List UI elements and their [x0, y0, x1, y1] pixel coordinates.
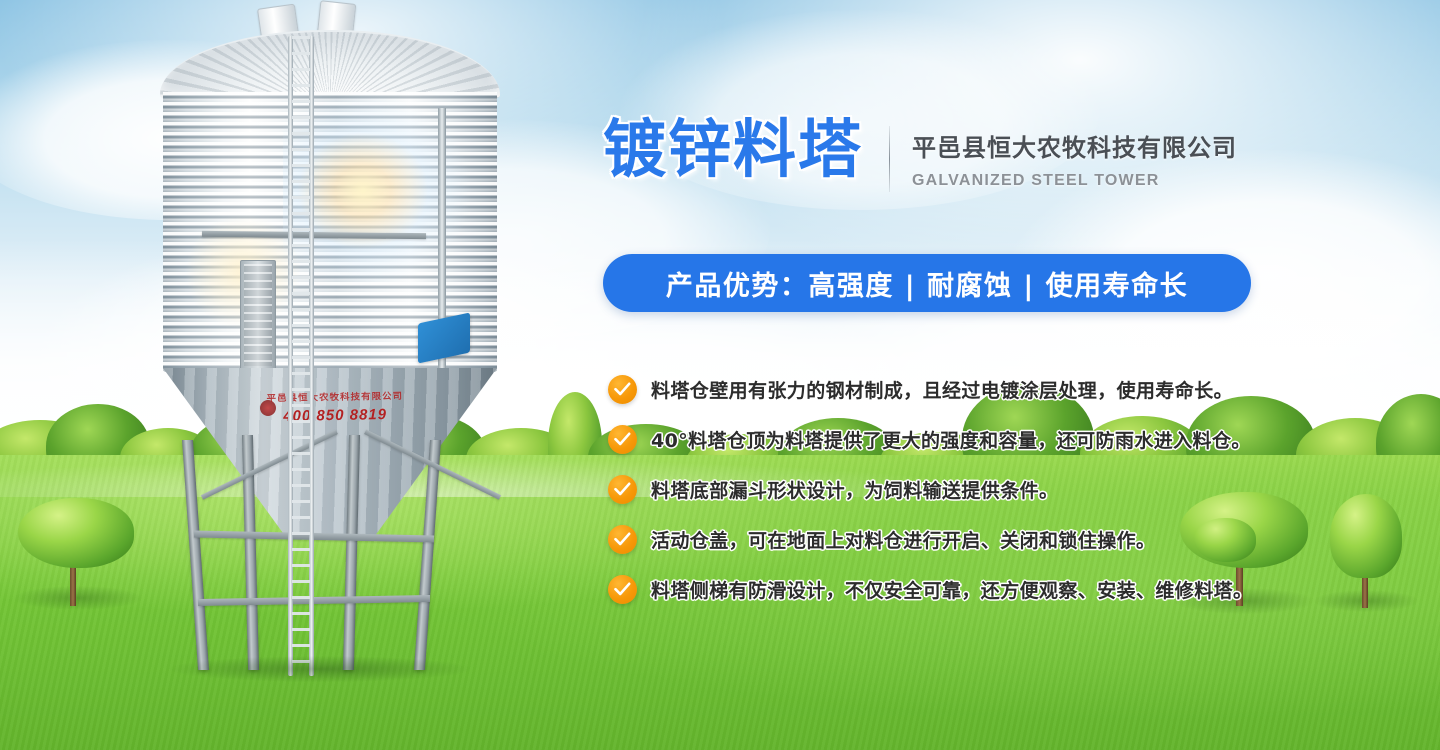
- silo-vertical-stiffener: [438, 108, 446, 408]
- hopper-red-mark: [260, 400, 276, 416]
- silo-leg: [182, 440, 209, 670]
- check-icon: [608, 425, 637, 454]
- silo-hopper-cone: [163, 368, 497, 538]
- hopper-sheen: [163, 368, 497, 538]
- promo-banner: 平邑县恒大农牧科技有限公司 400 850 8819 镀锌料塔 平邑县恒大农牧科…: [0, 0, 1440, 750]
- check-icon: [608, 575, 637, 604]
- check-icon: [608, 525, 637, 554]
- silo-ground-shadow: [170, 656, 470, 682]
- feature-text: 料塔侧梯有防滑设计，不仅安全可靠，还方便观察、安装、维修料塔。: [651, 576, 1252, 603]
- check-icon: [608, 475, 637, 504]
- feature-text: 料塔底部漏斗形状设计，为饲料输送提供条件。: [651, 476, 1058, 503]
- feature-text: 活动仓盖，可在地面上对料仓进行开启、关闭和锁住操作。: [651, 526, 1155, 553]
- foreground-tree: [18, 498, 138, 608]
- silo-side-ladder: [288, 36, 314, 676]
- company-name: 平邑县恒大农牧科技有限公司: [912, 128, 1237, 163]
- check-icon: [608, 375, 637, 404]
- advantage-banner-text: 产品优势：高强度 | 耐腐蚀 | 使用寿命长: [666, 264, 1188, 303]
- company-subtitle: GALVANIZED STEEL TOWER: [912, 172, 1237, 190]
- silo-brace: [194, 530, 434, 542]
- feature-item: 40°料塔仓顶为料塔提供了更大的强度和容量，还可防雨水进入料仓。: [608, 414, 1408, 464]
- feature-list: 料塔仓壁用有张力的钢材制成，且经过电镀涂层处理，使用寿命长。 40°料塔仓顶为料…: [608, 364, 1408, 614]
- feature-text: 料塔仓壁用有张力的钢材制成，且经过电镀涂层处理，使用寿命长。: [651, 376, 1233, 403]
- title-divider: [889, 126, 890, 192]
- feature-item: 料塔底部漏斗形状设计，为饲料输送提供条件。: [608, 464, 1408, 514]
- silo-access-panel: [240, 260, 276, 370]
- company-block: 平邑县恒大农牧科技有限公司 GALVANIZED STEEL TOWER: [912, 118, 1237, 190]
- feature-item: 料塔侧梯有防滑设计，不仅安全可靠，还方便观察、安装、维修料塔。: [608, 564, 1408, 614]
- feature-item: 活动仓盖，可在地面上对料仓进行开启、关闭和锁住操作。: [608, 514, 1408, 564]
- galvanized-silo-image: 平邑县恒大农牧科技有限公司 400 850 8819: [150, 0, 510, 700]
- feature-text: 40°料塔仓顶为料塔提供了更大的强度和容量，还可防雨水进入料仓。: [651, 426, 1251, 453]
- ladder-rungs: [292, 36, 310, 676]
- page-title: 镀锌料塔: [603, 118, 863, 181]
- feature-item: 料塔仓壁用有张力的钢材制成，且经过电镀涂层处理，使用寿命长。: [608, 364, 1408, 414]
- headline-block: 镀锌料塔 平邑县恒大农牧科技有限公司 GALVANIZED STEEL TOWE…: [603, 118, 1237, 192]
- advantage-banner: 产品优势：高强度 | 耐腐蚀 | 使用寿命长: [603, 254, 1251, 312]
- silo-brace: [198, 595, 430, 606]
